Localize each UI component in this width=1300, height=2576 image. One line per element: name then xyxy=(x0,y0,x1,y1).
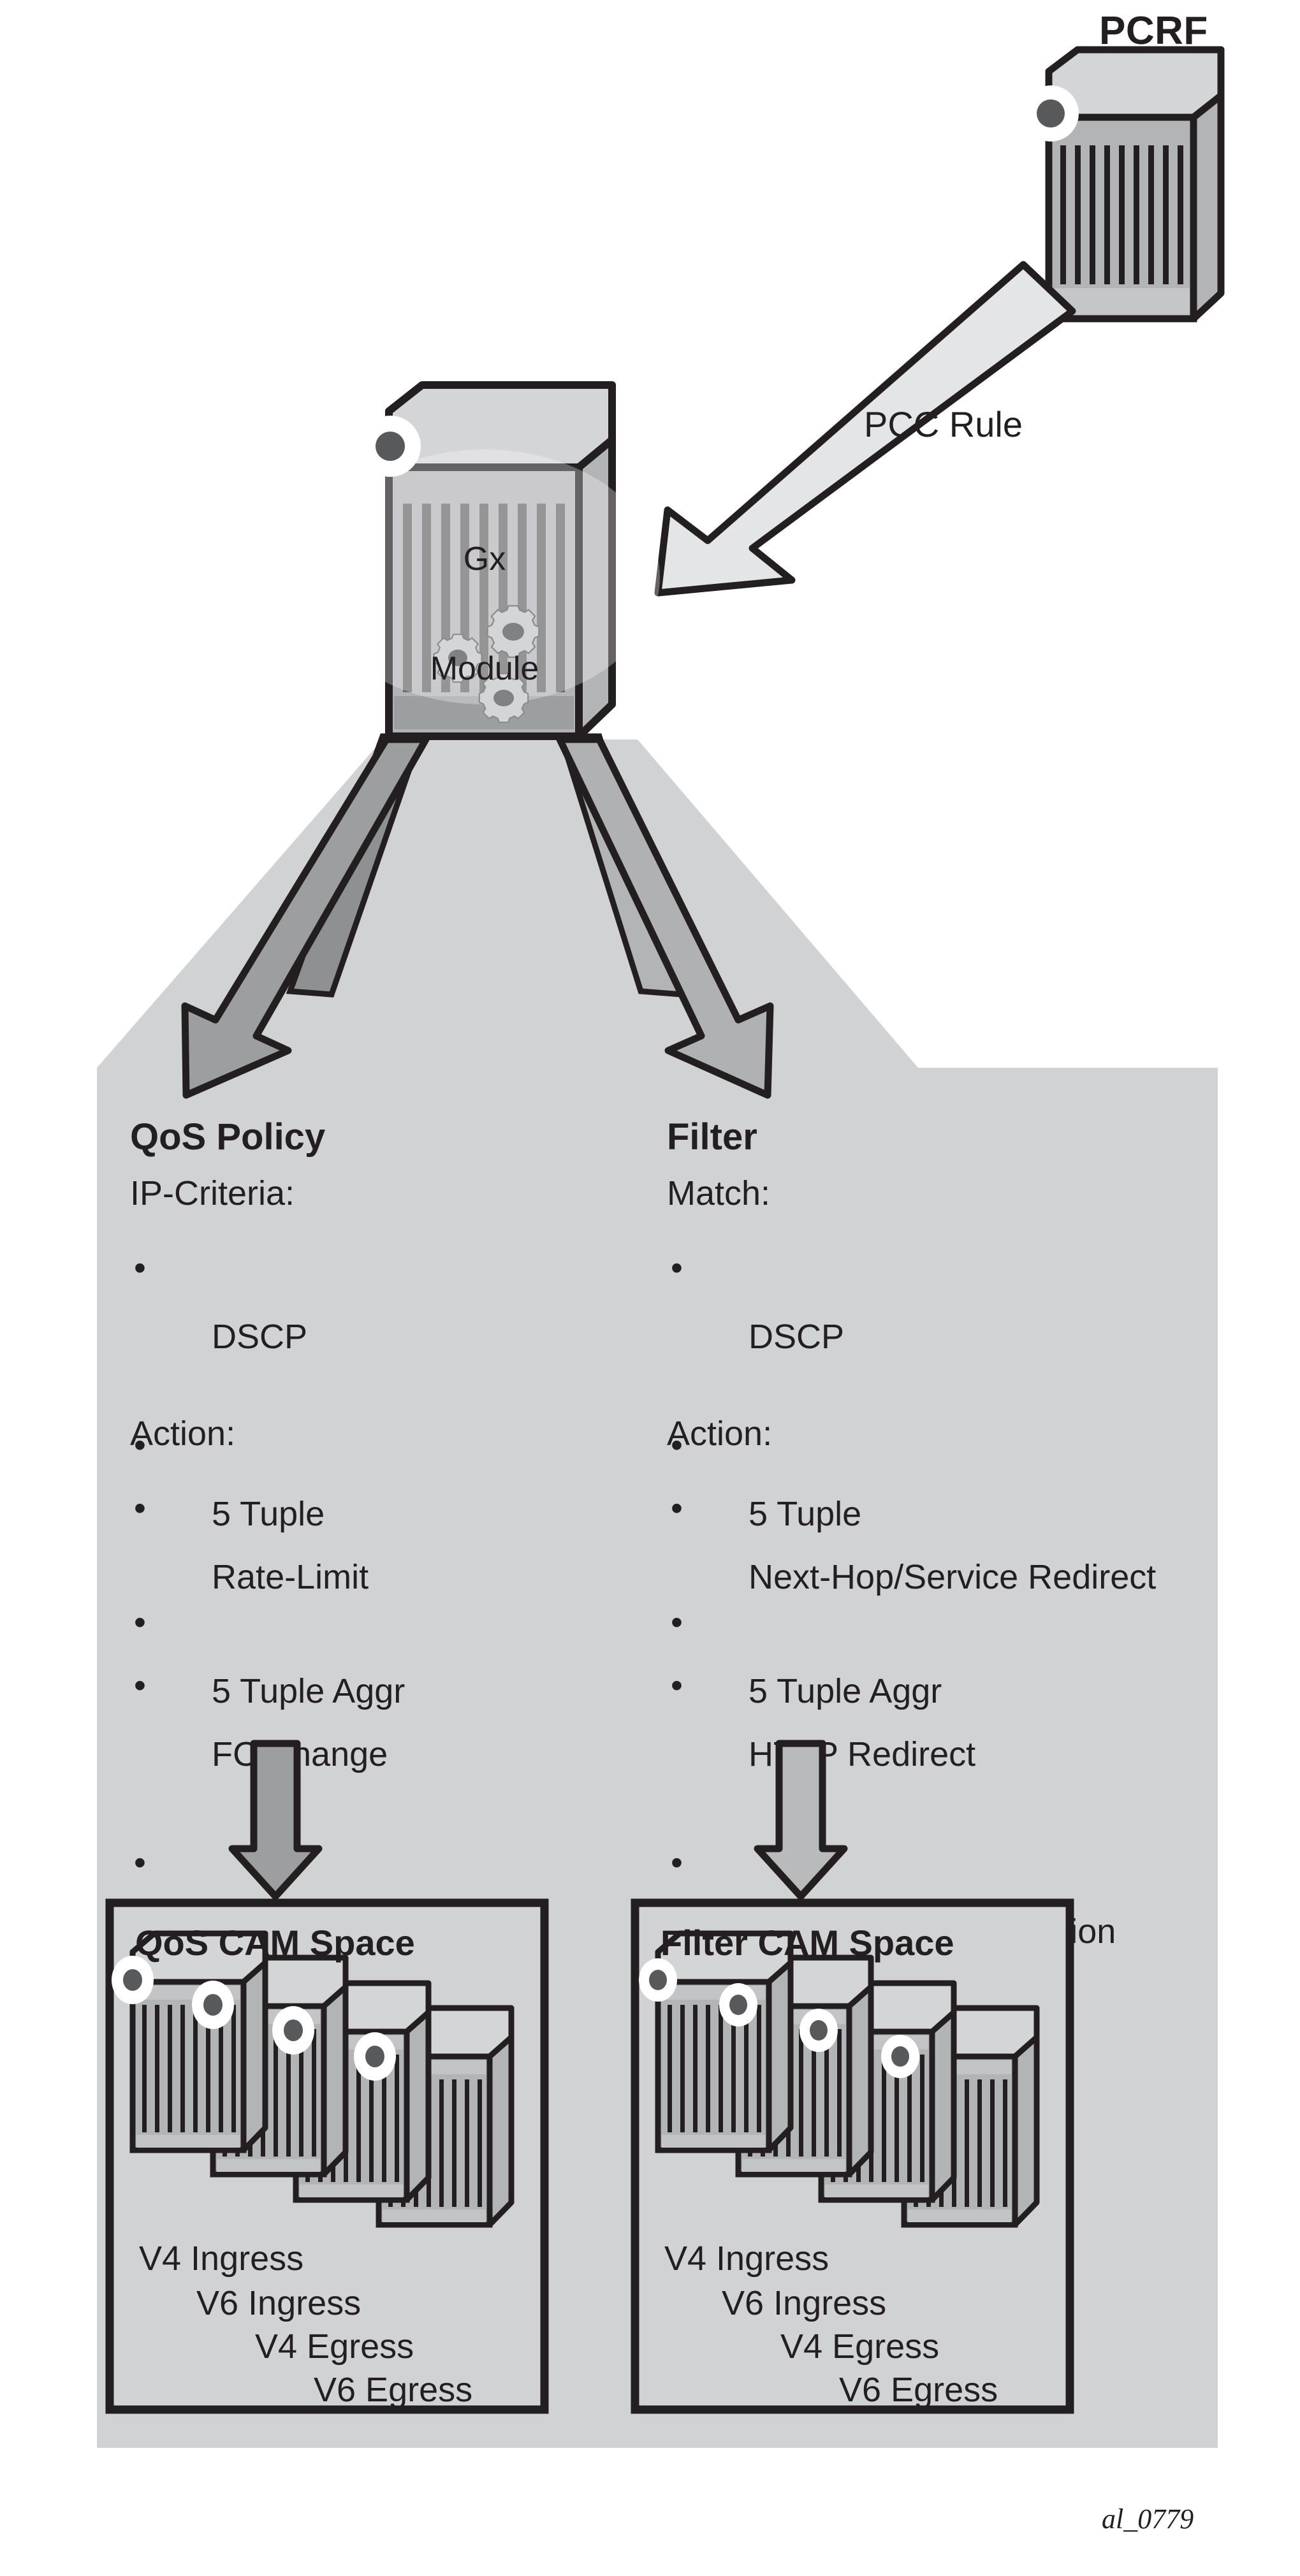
filter-cam-space-box xyxy=(0,0,1300,2576)
cam-box-badge xyxy=(800,2009,838,2052)
figure-caption: al_0779 xyxy=(1102,2505,1194,2533)
cam-box xyxy=(658,1933,791,2150)
filter-cam-entry: V6 Egress xyxy=(839,2373,998,2407)
cam-box-badge xyxy=(881,2035,919,2078)
filter-cam-entry: V4 Egress xyxy=(780,2329,939,2364)
cam-box-badge xyxy=(639,1958,677,2002)
filter-cam-title: Filter CAM Space xyxy=(661,1925,954,1961)
filter-cam-entry: V6 Ingress xyxy=(722,2286,886,2320)
filter-cam-entry: V4 Ingress xyxy=(664,2241,829,2276)
cam-box-badge xyxy=(719,1983,757,2027)
diagram-canvas: PCRF xyxy=(0,0,1300,2576)
